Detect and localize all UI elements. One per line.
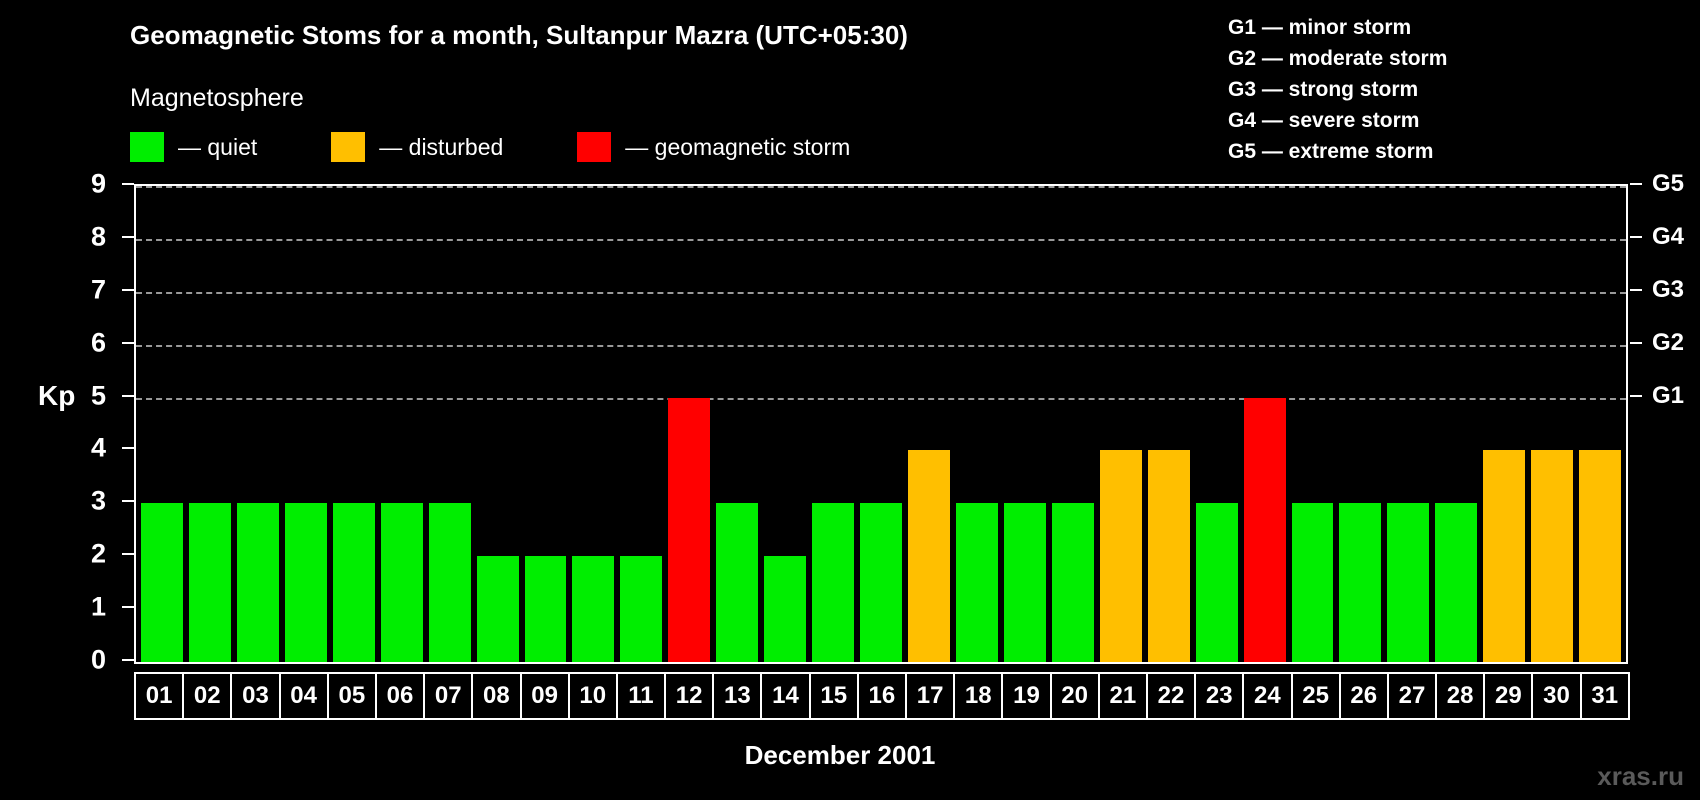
bar-day-17[interactable] — [908, 450, 950, 662]
day-label-28[interactable]: 28 — [1435, 672, 1485, 720]
bar-slot-day-28[interactable] — [1432, 186, 1480, 662]
bar-slot-day-11[interactable] — [617, 186, 665, 662]
bar-day-26[interactable] — [1339, 503, 1381, 662]
day-label-14[interactable]: 14 — [760, 672, 810, 720]
day-label-11[interactable]: 11 — [616, 672, 666, 720]
g-tick-mark-G1 — [1630, 395, 1642, 397]
bars-layer — [136, 186, 1626, 662]
bar-slot-day-23[interactable] — [1193, 186, 1241, 662]
bar-day-27[interactable] — [1387, 503, 1429, 662]
bar-slot-day-05[interactable] — [330, 186, 378, 662]
legend-swatch-disturbed-icon — [331, 132, 365, 162]
y-tick-mark-9 — [122, 183, 134, 185]
y-axis: 0123456789 — [70, 184, 118, 664]
g-scale-legend-line-1: G1 — minor storm — [1228, 12, 1447, 43]
day-label-02[interactable]: 02 — [182, 672, 232, 720]
y-tick-label-4: 4 — [91, 433, 106, 464]
bar-slot-day-25[interactable] — [1289, 186, 1337, 662]
bar-day-07[interactable] — [429, 503, 471, 662]
y-tick-label-2: 2 — [91, 539, 106, 570]
bar-day-11[interactable] — [620, 556, 662, 662]
day-label-09[interactable]: 09 — [520, 672, 570, 720]
bar-slot-day-06[interactable] — [378, 186, 426, 662]
day-label-18[interactable]: 18 — [953, 672, 1003, 720]
y-tick-label-8: 8 — [91, 221, 106, 252]
y-tick-mark-1 — [122, 606, 134, 608]
legend-label-storm: — geomagnetic storm — [625, 134, 850, 161]
g-scale-legend: G1 — minor stormG2 — moderate stormG3 — … — [1228, 12, 1447, 167]
watermark: xras.ru — [1597, 761, 1684, 792]
day-label-23[interactable]: 23 — [1194, 672, 1244, 720]
bar-day-01[interactable] — [141, 503, 183, 662]
bar-slot-day-29[interactable] — [1480, 186, 1528, 662]
bar-day-25[interactable] — [1292, 503, 1334, 662]
day-label-17[interactable]: 17 — [905, 672, 955, 720]
bar-slot-day-16[interactable] — [857, 186, 905, 662]
bar-day-20[interactable] — [1052, 503, 1094, 662]
bar-slot-day-31[interactable] — [1576, 186, 1624, 662]
magnetosphere-legend: — quiet — disturbed — geomagnetic storm — [130, 132, 850, 162]
bar-day-22[interactable] — [1148, 450, 1190, 662]
bar-day-02[interactable] — [189, 503, 231, 662]
day-label-20[interactable]: 20 — [1050, 672, 1100, 720]
y-tick-label-7: 7 — [91, 274, 106, 305]
legend-swatch-storm-icon — [577, 132, 611, 162]
y-tick-mark-6 — [122, 342, 134, 344]
bar-slot-day-12[interactable] — [665, 186, 713, 662]
bar-slot-day-09[interactable] — [522, 186, 570, 662]
g-tick-mark-G2 — [1630, 342, 1642, 344]
bar-slot-day-01[interactable] — [138, 186, 186, 662]
bar-day-13[interactable] — [716, 503, 758, 662]
bar-day-23[interactable] — [1196, 503, 1238, 662]
day-label-25[interactable]: 25 — [1291, 672, 1341, 720]
day-label-26[interactable]: 26 — [1339, 672, 1389, 720]
bar-day-06[interactable] — [381, 503, 423, 662]
bar-day-24[interactable] — [1244, 398, 1286, 662]
bar-slot-day-04[interactable] — [282, 186, 330, 662]
legend-entry-disturbed: — disturbed — [331, 132, 503, 162]
bar-day-31[interactable] — [1579, 450, 1621, 662]
page-title: Geomagnetic Stoms for a month, Sultanpur… — [130, 20, 908, 51]
y-tick-label-1: 1 — [91, 592, 106, 623]
bar-slot-day-21[interactable] — [1097, 186, 1145, 662]
bar-slot-day-18[interactable] — [953, 186, 1001, 662]
g-scale-axis: G1G2G3G4G5 — [1630, 184, 1700, 664]
bar-day-28[interactable] — [1435, 503, 1477, 662]
day-label-29[interactable]: 29 — [1483, 672, 1533, 720]
legend-swatch-quiet-icon — [130, 132, 164, 162]
day-label-15[interactable]: 15 — [809, 672, 859, 720]
bar-slot-day-17[interactable] — [905, 186, 953, 662]
y-tick-label-9: 9 — [91, 169, 106, 200]
bar-day-04[interactable] — [285, 503, 327, 662]
bar-slot-day-22[interactable] — [1145, 186, 1193, 662]
plot-inner — [136, 186, 1626, 662]
bar-slot-day-30[interactable] — [1528, 186, 1576, 662]
day-label-06[interactable]: 06 — [375, 672, 425, 720]
day-label-04[interactable]: 04 — [279, 672, 329, 720]
y-tick-label-3: 3 — [91, 486, 106, 517]
bar-slot-day-02[interactable] — [186, 186, 234, 662]
bar-day-05[interactable] — [333, 503, 375, 662]
bar-day-03[interactable] — [237, 503, 279, 662]
bar-slot-day-20[interactable] — [1049, 186, 1097, 662]
g-tick-label-G4: G4 — [1652, 223, 1684, 251]
legend-entry-quiet: — quiet — [130, 132, 257, 162]
day-label-31[interactable]: 31 — [1580, 672, 1630, 720]
day-label-10[interactable]: 10 — [568, 672, 618, 720]
bar-slot-day-08[interactable] — [474, 186, 522, 662]
day-label-19[interactable]: 19 — [1001, 672, 1051, 720]
y-tick-mark-4 — [122, 447, 134, 449]
bar-slot-day-03[interactable] — [234, 186, 282, 662]
bar-day-19[interactable] — [1004, 503, 1046, 662]
y-tick-label-6: 6 — [91, 327, 106, 358]
x-axis-day-labels: 0102030405060708091011121314151617181920… — [134, 672, 1628, 720]
y-tick-mark-5 — [122, 395, 134, 397]
plot-area — [134, 184, 1628, 664]
g-scale-legend-line-5: G5 — extreme storm — [1228, 136, 1447, 167]
bar-slot-day-13[interactable] — [713, 186, 761, 662]
day-label-07[interactable]: 07 — [423, 672, 473, 720]
x-axis-title: December 2001 — [0, 740, 1700, 771]
g-tick-label-G3: G3 — [1652, 276, 1684, 304]
legend-label-quiet: — quiet — [178, 134, 257, 161]
day-label-13[interactable]: 13 — [712, 672, 762, 720]
y-tick-mark-3 — [122, 500, 134, 502]
y-tick-mark-7 — [122, 289, 134, 291]
bar-slot-day-19[interactable] — [1001, 186, 1049, 662]
y-tick-mark-8 — [122, 236, 134, 238]
day-label-30[interactable]: 30 — [1531, 672, 1581, 720]
bar-day-12[interactable] — [668, 398, 710, 662]
g-tick-mark-G3 — [1630, 289, 1642, 291]
bar-day-14[interactable] — [764, 556, 806, 662]
legend-label-disturbed: — disturbed — [379, 134, 503, 161]
day-label-12[interactable]: 12 — [664, 672, 714, 720]
bar-day-08[interactable] — [477, 556, 519, 662]
day-label-27[interactable]: 27 — [1387, 672, 1437, 720]
day-label-05[interactable]: 05 — [327, 672, 377, 720]
bar-slot-day-27[interactable] — [1384, 186, 1432, 662]
bar-slot-day-15[interactable] — [809, 186, 857, 662]
g-scale-legend-line-3: G3 — strong storm — [1228, 74, 1447, 105]
bar-day-21[interactable] — [1100, 450, 1142, 662]
bar-day-18[interactable] — [956, 503, 998, 662]
y-tick-mark-2 — [122, 553, 134, 555]
legend-heading: Magnetosphere — [130, 84, 304, 113]
bar-day-10[interactable] — [572, 556, 614, 662]
g-tick-label-G1: G1 — [1652, 382, 1684, 410]
g-scale-legend-line-4: G4 — severe storm — [1228, 105, 1447, 136]
g-tick-label-G2: G2 — [1652, 329, 1684, 357]
day-label-03[interactable]: 03 — [230, 672, 280, 720]
day-label-01[interactable]: 01 — [134, 672, 184, 720]
bar-day-16[interactable] — [860, 503, 902, 662]
day-label-24[interactable]: 24 — [1242, 672, 1292, 720]
day-label-22[interactable]: 22 — [1146, 672, 1196, 720]
y-tick-label-5: 5 — [91, 380, 106, 411]
legend-entry-storm: — geomagnetic storm — [577, 132, 850, 162]
bar-slot-day-07[interactable] — [426, 186, 474, 662]
x-axis-title-text: December 2001 — [745, 740, 936, 771]
day-label-16[interactable]: 16 — [857, 672, 907, 720]
g-tick-label-G5: G5 — [1652, 170, 1684, 198]
bar-day-15[interactable] — [812, 503, 854, 662]
g-tick-mark-G4 — [1630, 236, 1642, 238]
bar-slot-day-14[interactable] — [761, 186, 809, 662]
y-tick-mark-0 — [122, 659, 134, 661]
bar-day-30[interactable] — [1531, 450, 1573, 662]
day-label-21[interactable]: 21 — [1098, 672, 1148, 720]
bar-day-29[interactable] — [1483, 450, 1525, 662]
y-tick-label-0: 0 — [91, 645, 106, 676]
bar-day-09[interactable] — [525, 556, 567, 662]
g-scale-legend-line-2: G2 — moderate storm — [1228, 43, 1447, 74]
g-tick-mark-G5 — [1630, 183, 1642, 185]
bar-slot-day-10[interactable] — [569, 186, 617, 662]
day-label-08[interactable]: 08 — [471, 672, 521, 720]
bar-slot-day-26[interactable] — [1336, 186, 1384, 662]
geomagnetic-storm-chart: Geomagnetic Stoms for a month, Sultanpur… — [0, 0, 1700, 800]
bar-slot-day-24[interactable] — [1241, 186, 1289, 662]
